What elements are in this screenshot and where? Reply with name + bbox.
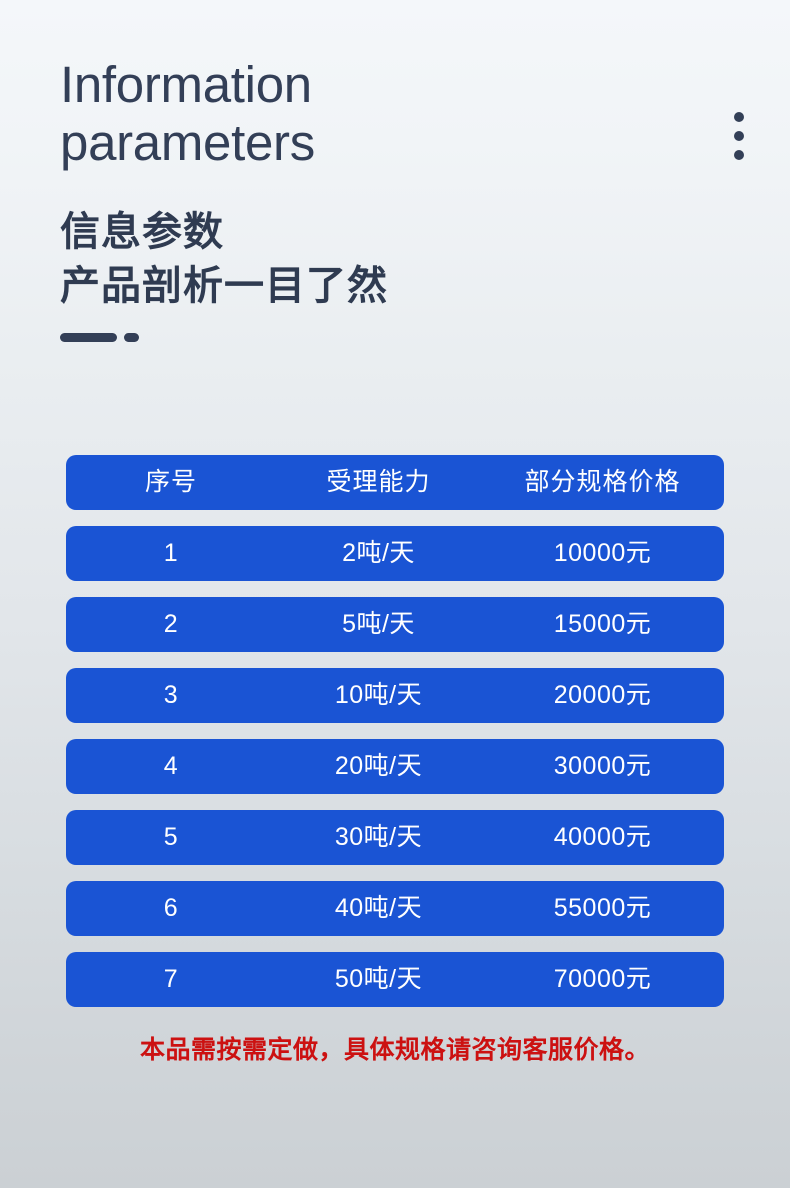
kebab-menu-icon[interactable] — [734, 112, 744, 160]
kebab-dot-2-icon — [734, 131, 744, 141]
cell-capacity: 30吨/天 — [276, 825, 481, 850]
cell-price: 70000元 — [481, 967, 724, 992]
page-subtitle-line-1: 信息参数 — [60, 205, 720, 259]
cell-price: 55000元 — [481, 896, 724, 921]
cell-price: 40000元 — [481, 825, 724, 850]
cell-capacity: 50吨/天 — [276, 967, 481, 992]
cell-index: 3 — [66, 683, 276, 708]
table-row: 2 5吨/天 15000元 — [66, 597, 724, 652]
table-row: 6 40吨/天 55000元 — [66, 881, 724, 936]
table-row: 7 50吨/天 70000元 — [66, 952, 724, 1007]
specification-table: 序号 受理能力 部分规格价格 1 2吨/天 10000元 2 5吨/天 1500… — [66, 455, 724, 1007]
kebab-dot-3-icon — [734, 150, 744, 160]
table-row: 4 20吨/天 30000元 — [66, 739, 724, 794]
page-title-chinese: 信息参数 产品剖析一目了然 — [60, 205, 720, 313]
cell-price: 20000元 — [481, 683, 724, 708]
cell-price: 30000元 — [481, 754, 724, 779]
divider-dash-icon — [60, 333, 117, 342]
table-header-row: 序号 受理能力 部分规格价格 — [66, 455, 724, 510]
cell-index: 2 — [66, 612, 276, 637]
column-header-capacity: 受理能力 — [276, 470, 481, 495]
kebab-dot-1-icon — [734, 112, 744, 122]
table-row: 5 30吨/天 40000元 — [66, 810, 724, 865]
column-header-price: 部分规格价格 — [481, 470, 724, 495]
cell-capacity: 10吨/天 — [276, 683, 481, 708]
header-block: Information parameters 信息参数 产品剖析一目了然 — [60, 56, 720, 342]
divider-dot-icon — [124, 333, 139, 342]
cell-capacity: 40吨/天 — [276, 896, 481, 921]
column-header-index: 序号 — [66, 470, 276, 495]
decorative-divider — [60, 333, 720, 342]
cell-capacity: 20吨/天 — [276, 754, 481, 779]
table-row: 3 10吨/天 20000元 — [66, 668, 724, 723]
table-row: 1 2吨/天 10000元 — [66, 526, 724, 581]
footnote-disclaimer: 本品需按需定做，具体规格请咨询客服价格。 — [0, 1030, 790, 1066]
cell-index: 5 — [66, 825, 276, 850]
cell-index: 6 — [66, 896, 276, 921]
page-subtitle-line-2: 产品剖析一目了然 — [60, 259, 720, 313]
cell-index: 1 — [66, 541, 276, 566]
cell-index: 4 — [66, 754, 276, 779]
cell-capacity: 2吨/天 — [276, 541, 481, 566]
page-title-english: Information parameters — [60, 56, 720, 172]
cell-price: 15000元 — [481, 612, 724, 637]
cell-capacity: 5吨/天 — [276, 612, 481, 637]
product-spec-page: Information parameters 信息参数 产品剖析一目了然 序号 … — [0, 0, 790, 1188]
cell-index: 7 — [66, 967, 276, 992]
cell-price: 10000元 — [481, 541, 724, 566]
